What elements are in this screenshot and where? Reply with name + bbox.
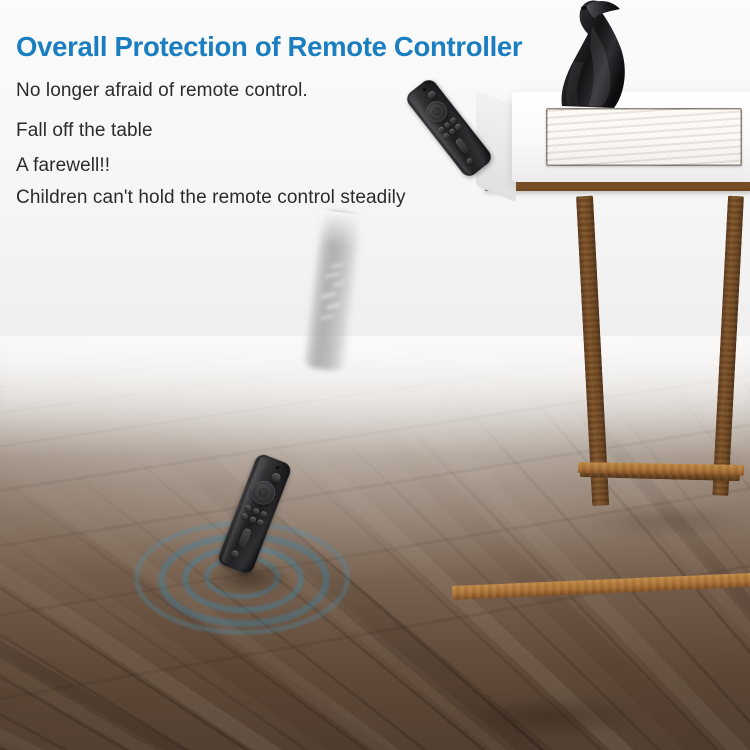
product-marketing-image: Overall Protection of Remote Controller …	[0, 0, 750, 750]
table-stretcher-front	[452, 573, 750, 600]
body-line-1: No longer afraid of remote control.	[16, 80, 308, 102]
page-title: Overall Protection of Remote Controller	[16, 31, 522, 63]
table-leg-front-left	[460, 184, 544, 536]
cabinet-drawer-panel[interactable]	[546, 108, 742, 166]
motion-fade	[317, 210, 365, 249]
trestle-side-table	[0, 0, 750, 750]
body-line-2: Fall off the table	[16, 120, 153, 142]
body-line-4: Children can't hold the remote control s…	[16, 187, 406, 209]
body-line-3: A farewell!!	[16, 155, 110, 177]
bird-figurine	[540, 0, 650, 108]
table-leg-rear-left	[576, 196, 609, 506]
table-leg-rear-right	[712, 196, 744, 496]
drawer-wood-grain	[546, 108, 742, 166]
